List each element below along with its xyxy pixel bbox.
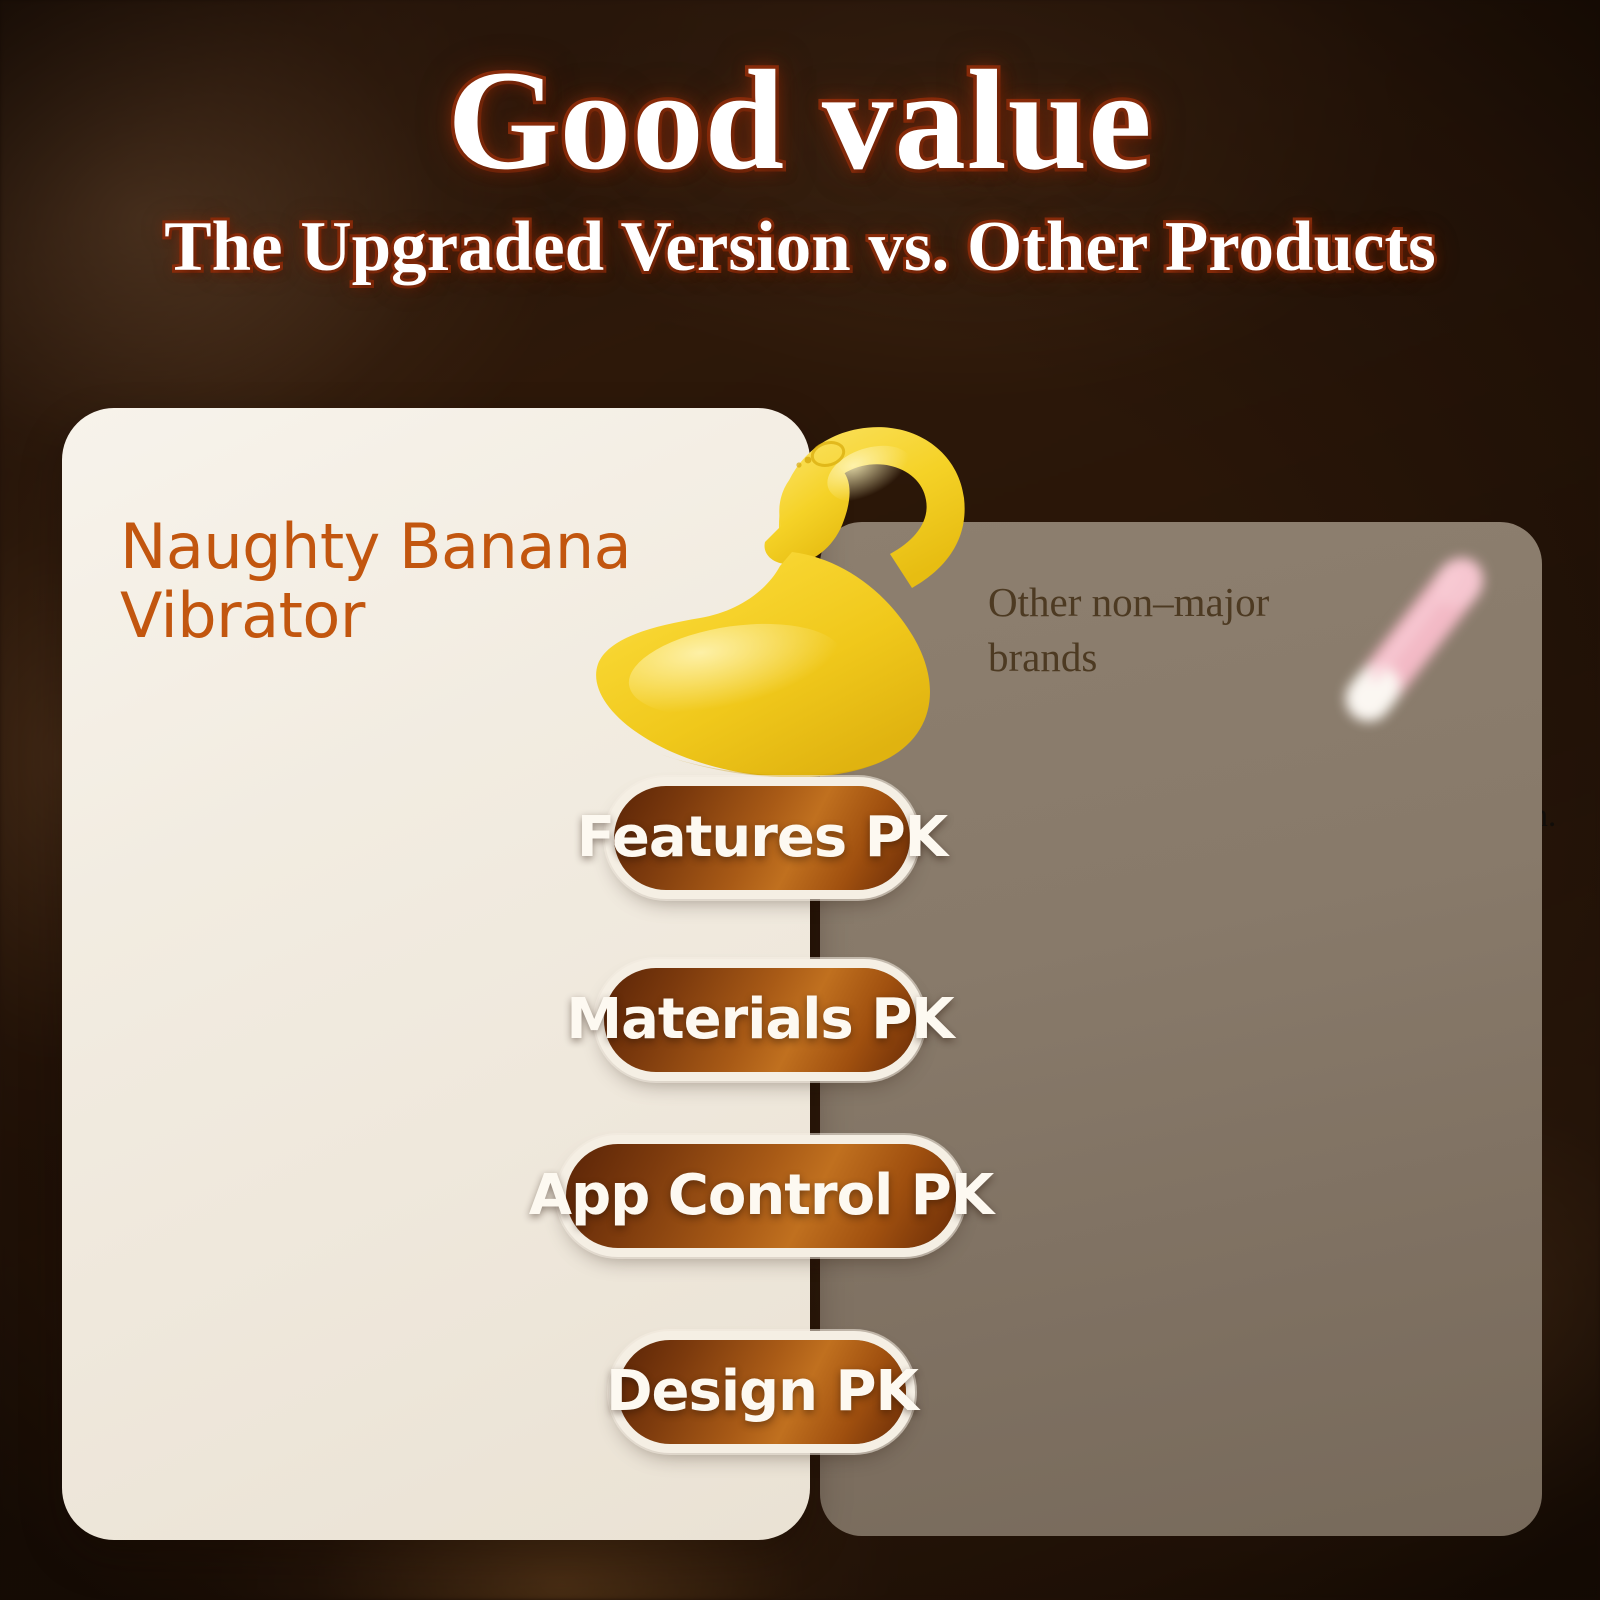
page-title: Good value: [0, 48, 1600, 194]
badge-features-pk-label: Features PK: [577, 810, 947, 866]
competitor-heading: Other non–major brands: [988, 575, 1318, 684]
badge-design-pk-label: Design PK: [606, 1364, 918, 1420]
badge-materials-pk[interactable]: Materials PK: [604, 968, 916, 1072]
headline-block: Good value The Upgraded Version vs. Othe…: [0, 48, 1600, 284]
competitor-heading-line-1: Other non–major: [988, 579, 1269, 625]
product-name: Naughty Banana Vibrator: [120, 512, 740, 651]
infographic-canvas: Good value The Upgraded Version vs. Othe…: [0, 0, 1600, 1600]
badge-features-pk[interactable]: Features PK: [614, 786, 910, 890]
product-name-line-2: Vibrator: [120, 581, 740, 650]
product-name-line-1: Naughty Banana: [120, 510, 631, 583]
badge-app-control-pk-label: App Control PK: [529, 1168, 993, 1224]
page-subtitle: The Upgraded Version vs. Other Products: [0, 210, 1600, 285]
badge-materials-pk-label: Materials PK: [566, 992, 953, 1048]
badge-design-pk[interactable]: Design PK: [618, 1340, 906, 1444]
competitor-heading-line-2: brands: [988, 634, 1097, 680]
badge-app-control-pk[interactable]: App Control PK: [566, 1144, 956, 1248]
